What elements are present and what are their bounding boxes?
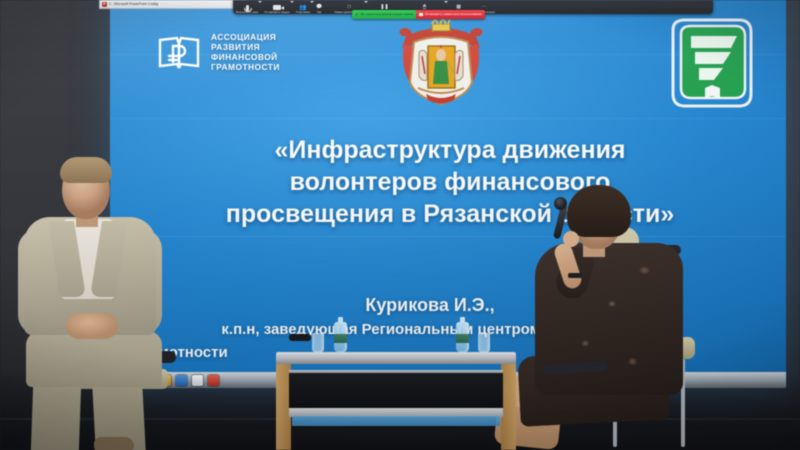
screen-share-status-bar[interactable]: ✓ Вы запустили демонстрацию экрана Остан… xyxy=(352,10,485,19)
stop-share-label: Остановить совместное использование xyxy=(425,13,482,16)
ryazan-coat-of-arms-icon xyxy=(388,18,494,110)
toolbar-participants-button[interactable]: 👥 Участники xyxy=(293,0,313,14)
sharing-indicator: ✓ Вы запустили демонстрацию экрана xyxy=(352,10,416,19)
powerpoint-window-titlebar[interactable]: P 2 - Microsoft PowerPoint Слайд xyxy=(99,0,247,9)
drinking-glass xyxy=(478,333,490,352)
water-bottle xyxy=(456,322,469,352)
powerpoint-window-title: 2 - Microsoft PowerPoint Слайд xyxy=(109,2,158,6)
wristwatch xyxy=(568,273,582,278)
association-line-4: ГРАМОТНОСТИ xyxy=(211,63,280,73)
clasped-hands xyxy=(66,313,118,339)
sharing-indicator-label: Вы запустили демонстрацию экрана xyxy=(361,13,414,16)
toolbar-participants-label: Участники xyxy=(296,11,310,15)
book-ruble-icon xyxy=(156,30,202,76)
toolbar-chat-button[interactable]: 💬 Чат xyxy=(313,0,325,14)
toolbar-stop-video-label: Остановить видео xyxy=(264,11,290,15)
water-bottle xyxy=(334,322,347,352)
rsu-logo-icon xyxy=(665,14,759,112)
stage-table xyxy=(276,352,516,450)
drinking-glass xyxy=(312,333,324,352)
slide-title-line-1: «Инфраструктура движения xyxy=(150,134,750,166)
shoe xyxy=(94,437,134,450)
stop-square-icon xyxy=(419,13,423,17)
conference-stage-photo: АССОЦИАЦИЯ РАЗВИТИЯ ФИНАНСОВОЙ ГРАМОТНОС… xyxy=(0,0,800,450)
toolbar-mute-button[interactable]: Выключить звук xyxy=(233,0,261,14)
check-icon: ✓ xyxy=(355,12,359,17)
toolbar-chat-label: Чат xyxy=(317,11,322,15)
panelist-right xyxy=(575,185,800,450)
powerpoint-app-icon: P xyxy=(102,2,107,7)
panelist-left xyxy=(10,155,200,450)
stop-share-button[interactable]: Остановить совместное использование xyxy=(416,10,485,19)
toolbar-stop-video-button[interactable]: Остановить видео xyxy=(261,0,293,14)
association-logo: АССОЦИАЦИЯ РАЗВИТИЯ ФИНАНСОВОЙ ГРАМОТНОС… xyxy=(156,30,280,76)
toolbar-mute-label: Выключить звук xyxy=(236,11,258,15)
powerpoint-icon[interactable] xyxy=(208,375,219,386)
